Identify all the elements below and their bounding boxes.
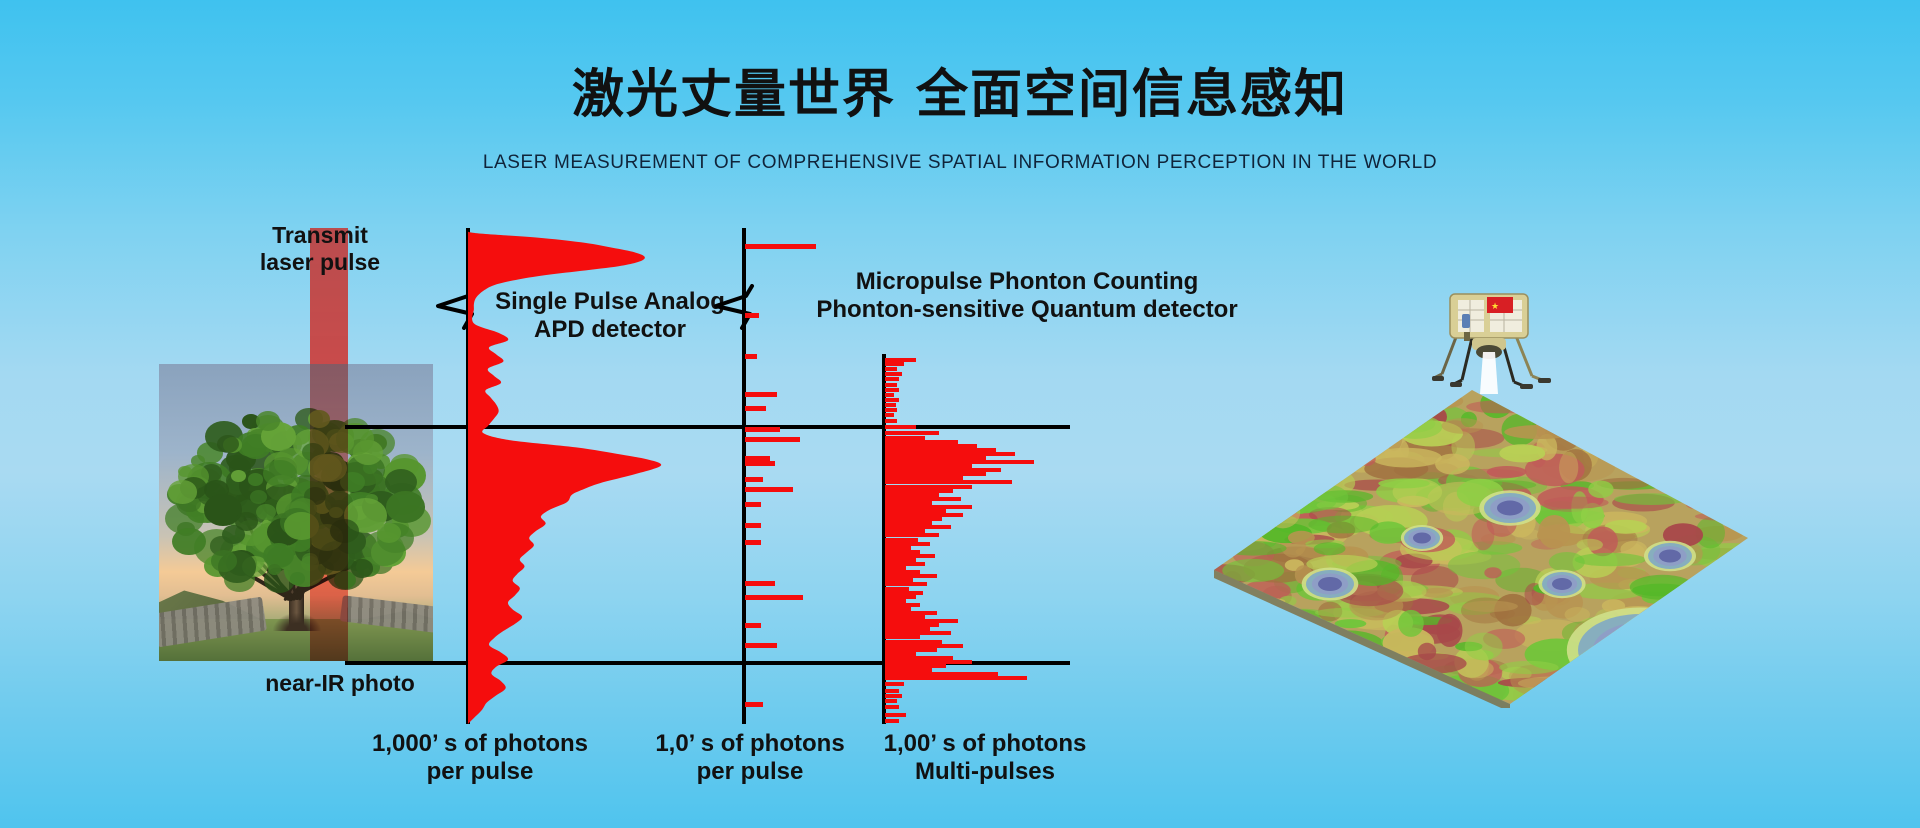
tree-foliage <box>217 435 239 453</box>
page-title: 激光丈量世界 全面空间信息感知 <box>0 52 1920 127</box>
photon-bar <box>885 403 896 407</box>
photon-bar <box>885 713 906 717</box>
photon-bar <box>745 461 775 466</box>
photon-bar <box>745 595 803 600</box>
tree-foliage <box>290 572 305 584</box>
bottom-label-left: 1,000’ s of photons per pulse <box>355 730 605 787</box>
photon-bar <box>885 676 1027 680</box>
photon-bar <box>745 502 761 507</box>
tree-foliage <box>172 528 206 556</box>
tree-foliage <box>178 466 192 478</box>
photon-bar <box>885 372 902 376</box>
lunar-lander: ★ <box>1432 288 1552 396</box>
photon-bar <box>885 694 902 698</box>
analog-waveform-fill <box>468 228 661 724</box>
photon-bar <box>885 425 916 429</box>
terrain-elevation-blobs <box>1210 389 1750 708</box>
photon-bar <box>745 540 761 545</box>
bar-series-panel-3 <box>885 356 1065 724</box>
bottom-label-middle: 1,0’ s of photons per pulse <box>640 730 860 787</box>
laser-beam <box>310 228 348 661</box>
photon-bar <box>885 689 899 693</box>
tree-foliage <box>248 473 263 485</box>
photon-bar <box>745 487 793 492</box>
near-ir-photo-label: near-IR photo <box>215 670 465 697</box>
poster-canvas: 激光丈量世界 全面空间信息感知 LASER MEASUREMENT OF COM… <box>0 0 1920 828</box>
near-ir-photo <box>159 364 433 661</box>
photon-bar <box>745 392 777 397</box>
photon-bar <box>745 477 763 482</box>
photon-bar <box>885 705 899 709</box>
tree-foliage <box>351 559 374 578</box>
photon-bar <box>745 523 761 528</box>
photon-bar <box>885 699 897 703</box>
photon-bar <box>745 427 780 432</box>
photon-bar <box>885 367 897 371</box>
photon-bar <box>885 419 897 423</box>
svg-text:★: ★ <box>1491 302 1499 312</box>
photon-bar <box>885 362 904 366</box>
photon-bar <box>745 354 757 359</box>
photon-bar <box>745 244 816 249</box>
descent-plume <box>1480 352 1498 394</box>
bottom-label-right: 1,00’ s of photons Multi-pulses <box>870 730 1100 787</box>
bar-series-panel-2 <box>745 234 885 724</box>
photon-bar <box>885 393 894 397</box>
transmit-laser-pulse-label: Transmit laser pulse <box>225 222 415 276</box>
tree-foliage <box>386 491 425 523</box>
photon-bar <box>745 406 766 411</box>
photon-bar <box>745 581 775 586</box>
photon-bar <box>885 413 894 417</box>
photon-bar <box>745 702 763 707</box>
waveform-panel-1 <box>468 228 668 728</box>
elevation-model-terrain <box>1210 388 1750 708</box>
photon-bar <box>745 437 800 442</box>
photon-bar <box>745 313 759 318</box>
tree-foliage <box>168 480 197 503</box>
photon-bar <box>885 398 899 402</box>
page-subtitle: LASER MEASUREMENT OF COMPREHENSIVE SPATI… <box>0 152 1920 174</box>
photon-bar <box>745 643 777 648</box>
tree-foliage <box>263 460 296 487</box>
photon-bar <box>885 383 897 387</box>
photon-bar <box>745 623 761 628</box>
photon-bar <box>885 408 897 412</box>
photon-bar <box>885 682 904 686</box>
lander-body: ★ <box>1450 294 1528 359</box>
photon-bar <box>885 377 899 381</box>
photon-bar <box>885 719 899 723</box>
photon-bar <box>885 388 899 392</box>
